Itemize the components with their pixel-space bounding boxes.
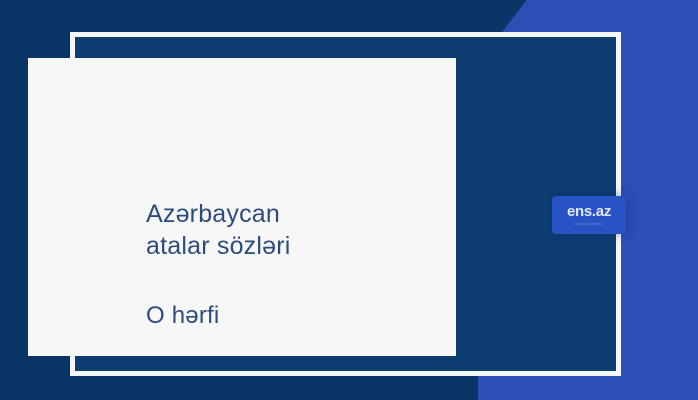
title-line-2: atalar sözləri xyxy=(146,230,466,262)
logo-wordmark: ens.az xyxy=(567,204,611,219)
logo-tagline: ensiklopediya xyxy=(575,221,603,227)
slide-canvas: Azərbaycan atalar sözləri O hərfi ens.az… xyxy=(0,0,698,400)
text-block: Azərbaycan atalar sözləri O hərfi xyxy=(146,198,466,332)
title-line-1: Azərbaycan xyxy=(146,198,466,230)
content-card: Azərbaycan atalar sözləri O hərfi xyxy=(28,58,456,356)
ens-az-logo-badge[interactable]: ens.az ensiklopediya xyxy=(552,196,626,234)
subtitle-letter-heading: O hərfi xyxy=(146,300,466,332)
